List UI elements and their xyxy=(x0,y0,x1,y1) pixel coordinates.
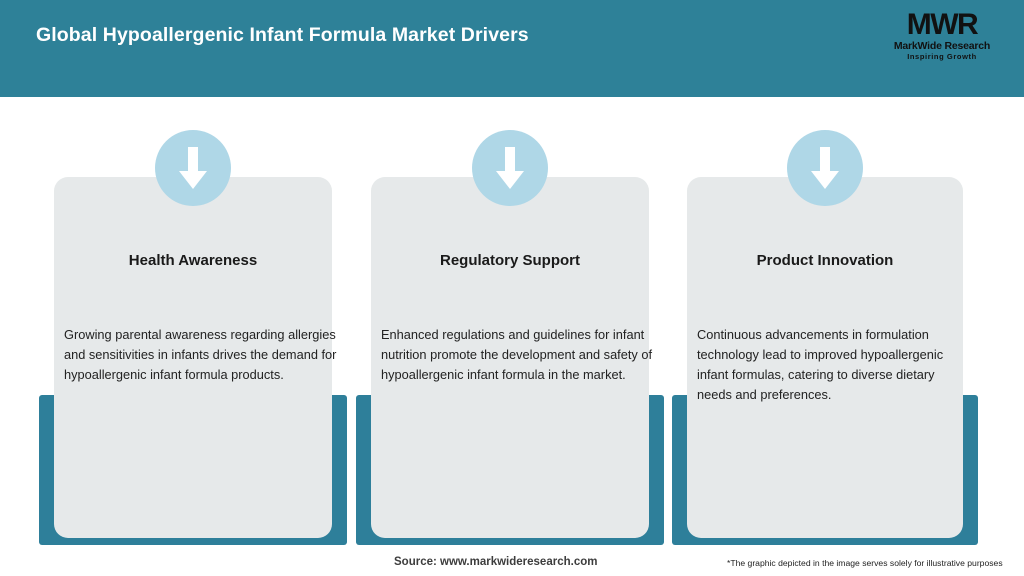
card-title: Regulatory Support xyxy=(356,252,664,269)
driver-card: Regulatory Support Enhanced regulations … xyxy=(356,130,664,545)
page-title: Global Hypoallergenic Infant Formula Mar… xyxy=(36,24,529,47)
disclaimer-label: *The graphic depicted in the image serve… xyxy=(727,558,1003,568)
card-description: Growing parental awareness regarding all… xyxy=(64,325,338,385)
card-title: Product Innovation xyxy=(672,252,978,269)
card-description: Enhanced regulations and guidelines for … xyxy=(381,325,655,385)
arrow-down-icon xyxy=(472,130,548,206)
page-header: Global Hypoallergenic Infant Formula Mar… xyxy=(0,0,1024,97)
card-title: Health Awareness xyxy=(39,252,347,269)
brand-logo: MWR MarkWide Research Inspiring Growth xyxy=(882,10,1002,68)
source-label: Source: www.markwideresearch.com xyxy=(394,556,597,568)
card-description: Continuous advancements in formulation t… xyxy=(697,325,969,405)
driver-card-group: Health Awareness Growing parental awaren… xyxy=(0,130,1024,550)
logo-company-name: MarkWide Research xyxy=(882,40,1002,52)
arrow-down-icon xyxy=(155,130,231,206)
driver-card: Product Innovation Continuous advancemen… xyxy=(672,130,978,545)
arrow-down-icon xyxy=(787,130,863,206)
driver-card: Health Awareness Growing parental awaren… xyxy=(39,130,347,545)
logo-mark-icon: MWR xyxy=(882,10,1002,40)
logo-tagline: Inspiring Growth xyxy=(882,52,1002,62)
